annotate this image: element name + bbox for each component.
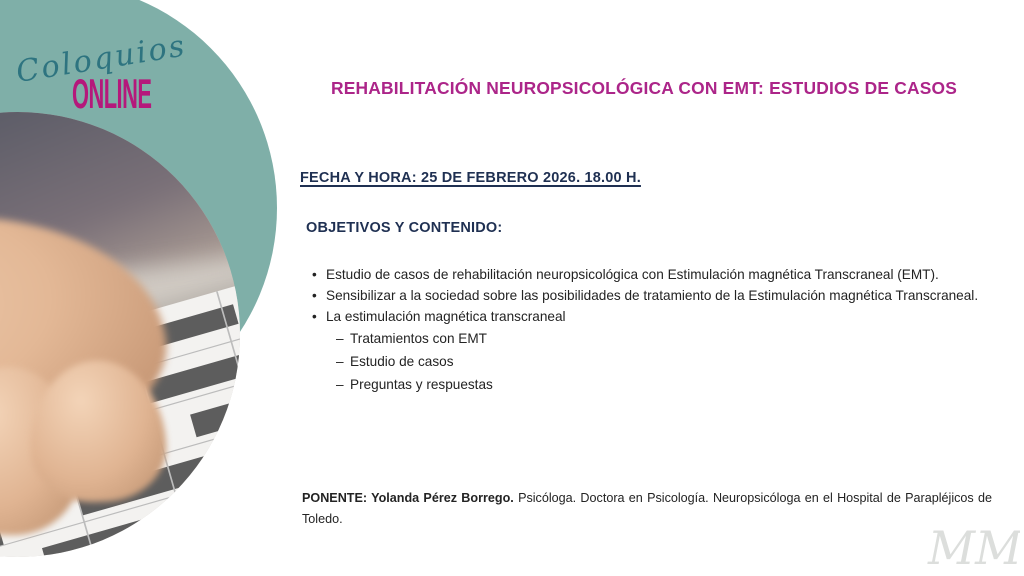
list-item: • Estudio de casos de rehabilitación neu… [308, 264, 986, 285]
list-item-text: Estudio de casos de rehabilitación neuro… [326, 264, 986, 285]
photo-circle [0, 112, 240, 557]
sub-list-item: – Preguntas y respuestas [308, 373, 986, 396]
coloquios-online-logo: Coloquios ONLINE [14, 26, 224, 112]
dash-marker-icon: – [336, 350, 344, 373]
sub-list-item-text: Estudio de casos [350, 354, 454, 369]
sub-list-item: – Estudio de casos [308, 350, 986, 373]
sub-list-item-text: Preguntas y respuestas [350, 377, 493, 392]
online-wordmark: ONLINE [72, 73, 151, 115]
svg-text:MM: MM [927, 521, 1020, 574]
sub-list-item: – Tratamientos con EMT [308, 327, 986, 350]
list-item-text: Sensibilizar a la sociedad sobre las pos… [326, 285, 986, 306]
bullet-marker-icon: • [312, 285, 317, 306]
objectives-heading: OBJETIVOS Y CONTENIDO: [306, 220, 502, 236]
bullet-marker-icon: • [312, 264, 317, 285]
corner-script-watermark: MM [924, 518, 1020, 574]
speaker-name: PONENTE: Yolanda Pérez Borrego. [302, 491, 514, 505]
sub-list-item-text: Tratamientos con EMT [350, 331, 487, 346]
crossword-photo [0, 112, 240, 557]
speaker-info: PONENTE: Yolanda Pérez Borrego. Psicólog… [302, 488, 992, 530]
slide-content: REHABILITACIÓN NEUROPSICOLÓGICA CON EMT:… [288, 0, 1000, 576]
bullet-marker-icon: • [312, 306, 317, 327]
date-and-time-line: FECHA Y HORA: 25 DE FEBRERO 2026. 18.00 … [300, 170, 641, 186]
page-title: REHABILITACIÓN NEUROPSICOLÓGICA CON EMT:… [288, 78, 1000, 99]
list-item: • Sensibilizar a la sociedad sobre las p… [308, 285, 986, 306]
list-item-text: La estimulación magnética transcraneal [326, 306, 986, 327]
list-item: • La estimulación magnética transcraneal [308, 306, 986, 327]
objectives-list: • Estudio de casos de rehabilitación neu… [308, 264, 986, 396]
dash-marker-icon: – [336, 373, 344, 396]
dash-marker-icon: – [336, 327, 344, 350]
